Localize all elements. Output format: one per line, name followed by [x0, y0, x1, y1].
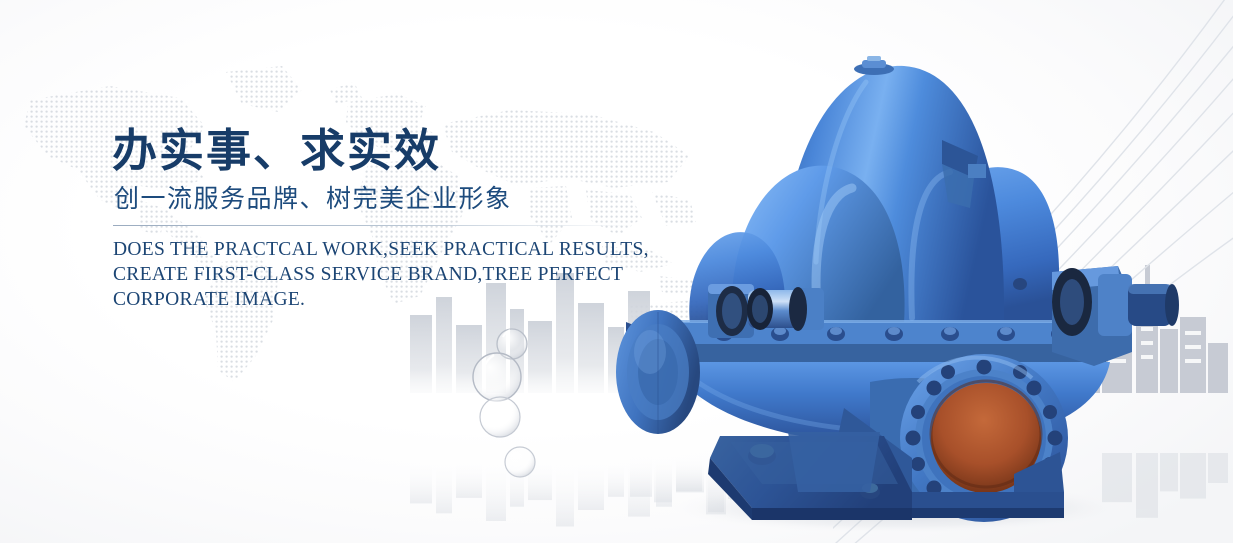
english-tagline: DOES THE PRACTCAL WORK,SEEK PRACTICAL RE…	[113, 237, 672, 312]
suction-flange	[616, 310, 700, 434]
english-tagline-line-2: CREATE FIRST-CLASS SERVICE BRAND,TREE PE…	[113, 262, 672, 287]
english-tagline-line-1: DOES THE PRACTCAL WORK,SEEK PRACTICAL RE…	[113, 237, 672, 262]
title-divider	[113, 225, 633, 226]
vent-plug	[854, 56, 894, 75]
pump-product-image	[612, 22, 1192, 532]
english-tagline-line-3: CORPORATE IMAGE.	[113, 287, 672, 312]
hero-banner: 办实事、求实效 创一流服务品牌、树完美企业形象 DOES THE PRACTCA…	[0, 0, 1233, 543]
page-subtitle: 创一流服务品牌、树完美企业形象	[114, 182, 672, 216]
banner-copy: 办实事、求实效 创一流服务品牌、树完美企业形象 DOES THE PRACTCA…	[112, 126, 672, 312]
page-title: 办实事、求实效	[112, 126, 672, 176]
water-bubbles-graphic	[470, 325, 590, 495]
